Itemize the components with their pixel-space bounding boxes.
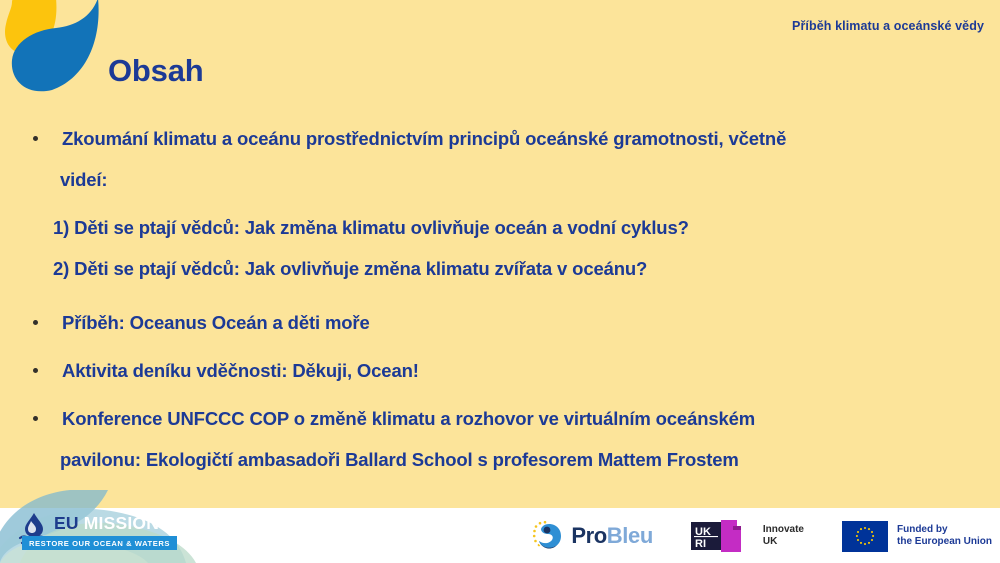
- decorative-leaf-logo: [0, 0, 108, 100]
- eu-missions-word-missions: MISSIONS: [84, 513, 171, 533]
- spacer: [0, 200, 1000, 207]
- bullet-dot-icon: [33, 320, 38, 325]
- list-item-text: Aktivita deníku vděčnosti: Děkuji, Ocean…: [62, 360, 419, 381]
- eu-missions-tagline: RESTORE OUR OCEAN & WATERS: [22, 536, 177, 550]
- list-item-numbered: 1) Děti se ptají vědců: Jak změna klimat…: [0, 207, 1000, 248]
- list-item-text: pavilonu: Ekologičtí ambasadoři Ballard …: [60, 449, 739, 470]
- innovate-uk-line1: Innovate: [763, 524, 804, 536]
- list-item: Příběh: Oceanus Oceán a děti moře: [0, 302, 1000, 343]
- bullet-dot-icon: [33, 416, 38, 421]
- partner-logo-strip: ProBleu UK RI Innovate: [530, 515, 992, 557]
- spacer: [0, 289, 1000, 302]
- page-title: Obsah: [108, 53, 203, 89]
- probleu-name-pro: Pro: [571, 523, 606, 548]
- list-item-text: 1) Děti se ptají vědců: Jak změna klimat…: [53, 217, 689, 238]
- ukri-innovate-uk-logo: UK RI Innovate UK: [691, 515, 804, 557]
- list-item-text: videí:: [60, 169, 107, 190]
- bullet-dot-icon: [33, 136, 38, 141]
- eu-funded-logo: Funded by the European Union: [842, 515, 992, 557]
- list-item: Aktivita deníku vděčnosti: Děkuji, Ocean…: [0, 350, 1000, 391]
- innovate-uk-line2: UK: [763, 536, 804, 548]
- spacer: [0, 343, 1000, 350]
- probleu-name-bleu: Bleu: [607, 523, 653, 548]
- header-title: Příběh klimatu a oceánské vědy: [792, 19, 984, 33]
- list-item-text: 2) Děti se ptají vědců: Jak ovlivňuje zm…: [53, 258, 647, 279]
- probleu-wordmark: ProBleu: [571, 523, 653, 549]
- eu-funded-text: Funded by the European Union: [897, 524, 992, 548]
- innovate-uk-text: Innovate UK: [763, 524, 804, 548]
- svg-text:RI: RI: [695, 538, 706, 550]
- list-item-numbered: 2) Děti se ptají vědců: Jak ovlivňuje zm…: [0, 248, 1000, 289]
- eu-missions-wordmark: EU MISSIONS: [54, 513, 171, 534]
- footer-bar: EU MISSIONS RESTORE OUR OCEAN & WATERS: [0, 508, 1000, 563]
- list-item-text: Konference UNFCCC COP o změně klimatu a …: [62, 408, 755, 429]
- eu-funded-line1: Funded by: [897, 524, 992, 536]
- content-list: Zkoumání klimatu a oceánu prostřednictví…: [0, 118, 1000, 480]
- list-item: Konference UNFCCC COP o změně klimatu a …: [0, 398, 1000, 439]
- list-item-text: Zkoumání klimatu a oceánu prostřednictví…: [62, 128, 786, 149]
- list-item-continuation: videí:: [0, 159, 1000, 200]
- eu-missions-word-eu: EU: [54, 513, 79, 533]
- list-item: Zkoumání klimatu a oceánu prostřednictví…: [0, 118, 1000, 159]
- list-item-text: Příběh: Oceanus Oceán a děti moře: [62, 312, 370, 333]
- list-item-continuation: pavilonu: Ekologičtí ambasadoři Ballard …: [0, 439, 1000, 480]
- slide-canvas: Příběh klimatu a oceánské vědy Obsah Zko…: [0, 0, 1000, 563]
- bullet-dot-icon: [33, 368, 38, 373]
- ukri-logo-icon: UK RI: [691, 520, 755, 552]
- probleu-logo: ProBleu: [530, 515, 653, 557]
- spacer: [0, 391, 1000, 398]
- eu-missions-logo: EU MISSIONS RESTORE OUR OCEAN & WATERS: [12, 513, 192, 555]
- eu-funded-line2: the European Union: [897, 536, 992, 548]
- eu-flag-icon: [842, 521, 888, 552]
- probleu-swirl-icon: [530, 519, 564, 553]
